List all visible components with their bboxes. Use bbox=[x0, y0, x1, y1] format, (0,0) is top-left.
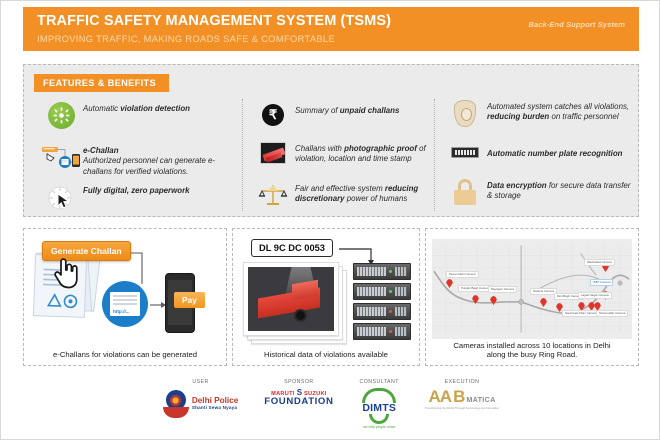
padlock-icon bbox=[443, 178, 487, 205]
panel-caption: Historical data of violations available bbox=[233, 350, 419, 360]
violation-photo-stack bbox=[243, 262, 347, 344]
feature-text: Automatic number plate recognition bbox=[487, 146, 622, 159]
logo-mark-matica: MATICA bbox=[466, 395, 495, 404]
feature-item-fair-system: Fair and effective system reducing discr… bbox=[251, 181, 436, 210]
rupee-coin-icon: ₹ bbox=[251, 103, 295, 126]
feature-text: Data encryption for secure data transfer… bbox=[487, 178, 633, 202]
feature-item-reducing-burden: Automated system catches all violations,… bbox=[443, 99, 633, 127]
map-label: Mayapuri Camera bbox=[488, 286, 517, 293]
police-badge-icon bbox=[443, 99, 487, 127]
logo-motto: Shanti Sewa Nyaya bbox=[192, 405, 238, 410]
panel-caption: e-Challans for violations can be generat… bbox=[24, 350, 226, 360]
feature-text: Automatic violation detection bbox=[83, 101, 190, 114]
generate-challan-illustration: Generate Challan http://... Pay bbox=[24, 229, 226, 341]
dimts-arc-icon bbox=[362, 388, 396, 403]
generate-challan-panel: Generate Challan http://... Pay e-Challa… bbox=[23, 228, 227, 366]
logo-name: Delhi Police bbox=[192, 396, 238, 405]
feature-text: Fair and effective system reducing discr… bbox=[295, 181, 436, 205]
panel-caption: Cameras installed across 10 locations in… bbox=[426, 341, 638, 360]
camera-map-panel: Peera Garhi Camera Punjabi Bagh Camera M… bbox=[425, 228, 639, 366]
feature-item-unpaid-challans: ₹ Summary of unpaid challans bbox=[251, 103, 436, 126]
features-column-1: Automatic violation detection bbox=[32, 99, 242, 211]
caption-line-2: along the busy Ring Road. bbox=[487, 350, 578, 359]
footer-logos: USER Delhi Police Shanti Sewa Nyaya SPON… bbox=[1, 373, 660, 439]
logo-tagline: we help people move bbox=[360, 425, 399, 429]
infographic-page: TRAFFIC SAFETY MANAGEMENT SYSTEM (TSMS) … bbox=[0, 0, 660, 440]
features-column-2: ₹ Summary of unpaid challans Challa bbox=[242, 99, 435, 211]
caption-line-1: Cameras installed across 10 locations in… bbox=[453, 341, 610, 350]
feature-item-fully-digital: Fully digital, zero paperwork bbox=[39, 183, 239, 214]
url-label: http://... bbox=[113, 309, 130, 314]
features-benefits-badge: FEATURES & BENEFITS bbox=[34, 74, 169, 92]
logo-caption: SPONSOR bbox=[264, 379, 333, 385]
map-label: Sarai Kale Khan Camera bbox=[562, 310, 600, 317]
map-label: Peera Garhi Camera bbox=[446, 271, 479, 278]
feature-item-violation-detection: Automatic violation detection bbox=[39, 101, 239, 129]
delhi-ring-road-map[interactable]: Peera Garhi Camera Punjabi Bagh Camera M… bbox=[432, 239, 632, 339]
page-header: TRAFFIC SAFETY MANAGEMENT SYSTEM (TSMS) … bbox=[23, 7, 639, 51]
feature-item-photographic-proof: Challans with photographic proof of viol… bbox=[251, 141, 436, 165]
online-payment-portal-icon: http://... bbox=[102, 281, 148, 327]
violation-photo bbox=[248, 267, 334, 331]
logo-tagline: Transforming the World Through Technolog… bbox=[425, 406, 499, 410]
feature-item-e-challan: e-Challan Authorized personnel can gener… bbox=[39, 143, 239, 177]
map-label: ISBT Camera bbox=[590, 279, 613, 286]
feature-item-plate-recognition: Automatic number plate recognition bbox=[443, 146, 633, 159]
features-columns: Automatic violation detection bbox=[32, 99, 632, 211]
logo-mark-aa: AA bbox=[429, 388, 452, 405]
e-challan-flow-icon bbox=[39, 143, 83, 174]
logo-mark-b: B bbox=[453, 388, 464, 405]
features-column-3: Automated system catches all violations,… bbox=[435, 99, 632, 211]
map-label: Lajpat Nagar Camera bbox=[578, 292, 612, 299]
feature-heading: e-Challan bbox=[83, 146, 239, 156]
map-label: Nizamuddin Camera bbox=[596, 310, 628, 317]
server-rack bbox=[353, 263, 411, 343]
feature-text: Summary of unpaid challans bbox=[295, 103, 399, 116]
photo-evidence-icon bbox=[251, 141, 295, 164]
feature-text: e-Challan Authorized personnel can gener… bbox=[83, 143, 239, 177]
pay-button[interactable]: Pay bbox=[174, 292, 205, 308]
logo-aab-matica: EXECUTION AA B MATICA Transforming the W… bbox=[425, 379, 499, 410]
logo-delhi-police: USER Delhi Police Shanti Sewa Nyaya bbox=[163, 379, 238, 418]
logo-dimts: CONSULTANT DIMTS we help people move bbox=[360, 379, 399, 429]
feature-text: Automated system catches all violations,… bbox=[487, 99, 633, 123]
hand-cursor-icon bbox=[52, 255, 80, 289]
page-subtitle: IMPROVING TRAFFIC, MAKING ROADS SAFE & C… bbox=[37, 34, 627, 44]
feature-item-data-encryption: Data encryption for secure data transfer… bbox=[443, 178, 633, 205]
bottom-panels-row: Generate Challan http://... Pay e-Challa… bbox=[23, 228, 639, 366]
license-plate-callout: DL 9C DC 0053 bbox=[251, 239, 333, 257]
scales-of-justice-icon bbox=[251, 181, 295, 210]
feature-text: Challans with photographic proof of viol… bbox=[295, 141, 436, 165]
logo-foundation-word: FOUNDATION bbox=[264, 397, 333, 407]
cursor-click-icon bbox=[39, 183, 83, 214]
gear-circle-icon bbox=[39, 101, 83, 129]
number-plate-icon bbox=[443, 146, 487, 158]
header-right-label: Back-End Support System bbox=[529, 20, 626, 29]
logo-caption: USER bbox=[163, 379, 238, 385]
logo-maruti-suzuki-foundation: SPONSOR MARUTI S SUZUKI FOUNDATION bbox=[264, 379, 333, 407]
features-benefits-panel: FEATURES & BENEFITS bbox=[23, 64, 639, 217]
map-label: Wazirabad Camera bbox=[584, 259, 615, 266]
logo-caption: CONSULTANT bbox=[360, 379, 399, 385]
logo-caption: EXECUTION bbox=[425, 379, 499, 385]
feature-text: Fully digital, zero paperwork bbox=[83, 183, 190, 196]
historical-data-panel: DL 9C DC 0053 bbox=[232, 228, 420, 366]
dimts-cup-icon bbox=[369, 414, 389, 424]
logo-name: DIMTS bbox=[360, 402, 399, 414]
historical-data-illustration: DL 9C DC 0053 bbox=[233, 229, 419, 341]
delhi-police-seal-icon bbox=[163, 388, 189, 418]
